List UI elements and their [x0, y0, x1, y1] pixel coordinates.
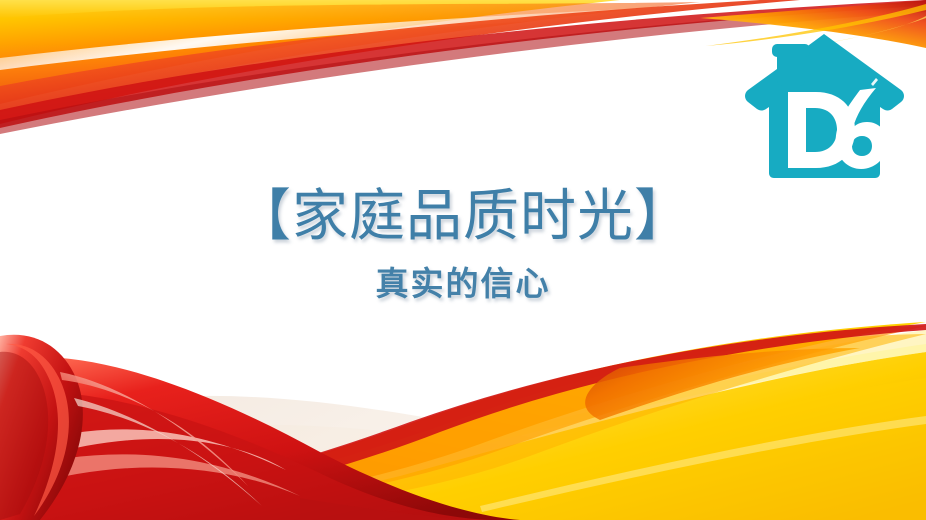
- presentation-slide: 【家庭品质时光】 真实的信心: [0, 0, 926, 520]
- d6-logo: [744, 30, 906, 180]
- house-icon: [744, 30, 906, 180]
- bottom-ribbon-group: [0, 322, 926, 520]
- title-block: 【家庭品质时光】 真实的信心: [0, 184, 926, 304]
- page-subtitle: 真实的信心: [0, 264, 926, 304]
- page-title: 【家庭品质时光】: [0, 184, 926, 250]
